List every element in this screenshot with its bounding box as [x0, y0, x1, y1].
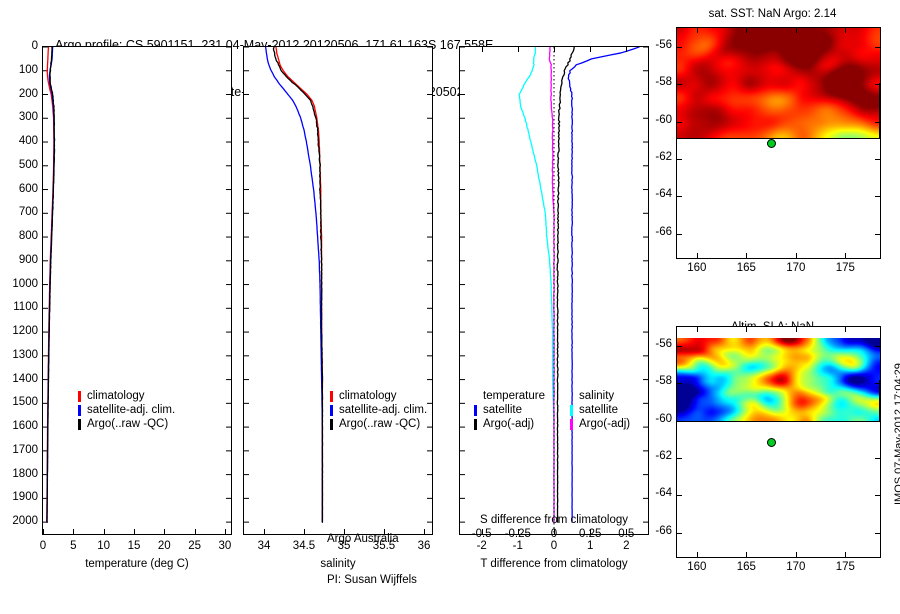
difference-legend-temperature: temperature satellite Argo(-adj) [474, 389, 545, 431]
axis-tick [677, 196, 682, 197]
sst-map-title: sat. SST: NaN Argo: 2.14 [660, 7, 885, 21]
credit-line2: PI: Susan Wijffels [327, 574, 417, 588]
axis-tick [697, 28, 698, 33]
sla-lon-tick: 175 [815, 561, 875, 573]
axis-tick [104, 529, 105, 534]
legend-label-temperature-satellite: satellite [483, 403, 522, 417]
axis-tick [304, 529, 305, 534]
x-tick-label: 2 [596, 540, 656, 552]
axis-tick [626, 529, 627, 534]
panel-temperature [42, 46, 232, 535]
legend-swatch-satellite-adj [330, 405, 333, 416]
sst-field [677, 28, 880, 139]
axis-tick [875, 533, 880, 534]
axis-tick [875, 196, 880, 197]
axis-tick [344, 529, 345, 534]
y-tick-label: 1100 [0, 302, 38, 312]
legend-item: satellite-adj. clim. [78, 403, 175, 417]
axis-tick [746, 327, 747, 332]
axis-tick [677, 159, 682, 160]
axis-tick [518, 529, 519, 534]
panel-difference [459, 46, 649, 535]
axis-tick [875, 234, 880, 235]
axis-tick [554, 529, 555, 534]
axis-tick [845, 552, 846, 557]
y-tick-label: 500 [0, 160, 38, 170]
sla-lat-tick: -56 [640, 339, 672, 349]
axis-tick [875, 84, 880, 85]
axis-tick [677, 421, 682, 422]
axis-tick [875, 458, 880, 459]
legend-label-satellite-adj: satellite-adj. clim. [339, 403, 427, 417]
axis-tick [875, 421, 880, 422]
legend-swatch-temperature-satellite [474, 405, 477, 416]
legend-item: satellite [570, 403, 630, 417]
salinity-profile-plot [244, 47, 432, 534]
sst-lat-tick: -56 [640, 40, 672, 50]
axis-tick [677, 122, 682, 123]
axis-tick [73, 529, 74, 534]
sst-lat-tick: -58 [640, 77, 672, 87]
y-tick-label: 1200 [0, 326, 38, 336]
axis-tick [677, 346, 682, 347]
legend-swatch-climatology [78, 391, 81, 402]
legend-item: satellite [474, 403, 545, 417]
sla-lat-tick: -64 [640, 488, 672, 498]
axis-tick [796, 327, 797, 332]
credit-line1: Argo Australia [327, 533, 417, 547]
y-tick-label: 600 [0, 184, 38, 194]
axis-tick [677, 458, 682, 459]
legend-label-salinity-argo-adj: Argo(-adj) [579, 417, 630, 431]
sla-map[interactable] [676, 326, 881, 558]
profile-location-marker [767, 139, 776, 148]
sst-lat-tick: -64 [640, 189, 672, 199]
axis-tick [697, 327, 698, 332]
legend-swatch-argo-raw [330, 419, 333, 430]
temperature-profile-plot [43, 47, 231, 534]
legend-swatch-satellite-adj [78, 405, 81, 416]
y-tick-label: 1900 [0, 492, 38, 502]
y-tick-label: 1500 [0, 397, 38, 407]
profile-location-marker [767, 438, 776, 447]
legend-swatch-salinity-argo-adj [570, 419, 573, 430]
legend-item: Argo(..raw -QC) [330, 417, 427, 431]
sla-field [677, 338, 880, 422]
legend-label-climatology: climatology [87, 389, 145, 403]
y-tick-label: 300 [0, 112, 38, 122]
y-tick-label: 1400 [0, 374, 38, 384]
difference-legend-salinity: salinity satellite Argo(-adj) [570, 389, 630, 431]
salinity-legend: climatology satellite-adj. clim. Argo(..… [330, 389, 427, 431]
axis-tick [845, 28, 846, 33]
legend-label-satellite-adj: satellite-adj. clim. [87, 403, 175, 417]
axis-tick [43, 529, 44, 534]
legend-swatch-argo-raw [78, 419, 81, 430]
axis-tick [677, 47, 682, 48]
axis-tick [518, 47, 519, 52]
axis-tick [134, 529, 135, 534]
legend-swatch-salinity-satellite [570, 405, 573, 416]
legend-label-argo-raw: Argo(..raw -QC) [87, 417, 168, 431]
legend-item: climatology [330, 389, 427, 403]
legend-header-temperature: temperature [474, 389, 545, 403]
axis-tick [875, 122, 880, 123]
y-tick-label: 900 [0, 255, 38, 265]
axis-tick [796, 28, 797, 33]
y-tick-label: 700 [0, 207, 38, 217]
y-tick-label: 1000 [0, 279, 38, 289]
temperature-axis-title: temperature (deg C) [42, 558, 232, 570]
axis-tick [384, 529, 385, 534]
axis-tick [225, 529, 226, 534]
legend-item: Argo(..raw -QC) [78, 417, 175, 431]
legend-item: Argo(-adj) [474, 417, 545, 431]
axis-tick [845, 253, 846, 258]
sla-lat-tick: -66 [640, 526, 672, 536]
difference-profile-plot [460, 47, 648, 534]
y-tick-label: 1300 [0, 350, 38, 360]
axis-tick [677, 495, 682, 496]
axis-tick [746, 253, 747, 258]
difference-t-axis-title: T difference from climatology [459, 558, 649, 570]
axis-tick [845, 327, 846, 332]
legend-swatch-climatology [330, 391, 333, 402]
axis-tick [677, 234, 682, 235]
sst-lon-tick: 175 [815, 262, 875, 274]
axis-tick [164, 529, 165, 534]
legend-label-temperature-argo-adj: Argo(-adj) [483, 417, 534, 431]
figure-root: Argo profile: CS 5901151_231 04-May-2012… [0, 0, 900, 580]
axis-tick [746, 552, 747, 557]
axis-tick [875, 47, 880, 48]
axis-tick [697, 253, 698, 258]
axis-tick [590, 47, 591, 52]
legend-header-salinity: salinity [570, 389, 630, 403]
legend-item: Argo(-adj) [570, 417, 630, 431]
y-tick-label: 200 [0, 89, 38, 99]
sst-lat-tick: -62 [640, 152, 672, 162]
axis-tick [746, 28, 747, 33]
y-tick-label: 400 [0, 136, 38, 146]
legend-label-argo-raw: Argo(..raw -QC) [339, 417, 420, 431]
y-tick-label: 1700 [0, 445, 38, 455]
y-tick-label: 1800 [0, 469, 38, 479]
temperature-legend: climatology satellite-adj. clim. Argo(..… [78, 389, 175, 431]
axis-tick [590, 529, 591, 534]
y-tick-label: 2000 [0, 516, 38, 526]
sla-lat-tick: -58 [640, 376, 672, 386]
sla-lat-tick: -60 [640, 414, 672, 424]
legend-item: climatology [78, 389, 175, 403]
axis-tick [875, 346, 880, 347]
axis-tick [554, 47, 555, 52]
panel-salinity [243, 46, 433, 535]
axis-tick [697, 552, 698, 557]
axis-tick [482, 47, 483, 52]
axis-tick [264, 529, 265, 534]
y-tick-label: 800 [0, 231, 38, 241]
legend-label-salinity-satellite: satellite [579, 403, 618, 417]
axis-tick [875, 383, 880, 384]
legend-swatch-temperature-argo-adj [474, 419, 477, 430]
sst-map[interactable] [676, 27, 881, 259]
axis-tick [677, 533, 682, 534]
y-tick-label: 0 [0, 41, 38, 51]
sst-lat-tick: -60 [640, 115, 672, 125]
data-credit: Argo Australia PI: Susan Wijffels [327, 506, 417, 614]
difference-s-axis-title: S difference from climatology [459, 514, 649, 526]
axis-tick [677, 383, 682, 384]
axis-tick [796, 552, 797, 557]
axis-tick [875, 159, 880, 160]
legend-item: satellite-adj. clim. [330, 403, 427, 417]
timestamp-stamp: IMOS 07-May-2012 17:04:29 [893, 363, 900, 505]
axis-tick [875, 495, 880, 496]
legend-label-climatology: climatology [339, 389, 397, 403]
axis-tick [482, 529, 483, 534]
sst-lat-tick: -66 [640, 227, 672, 237]
y-tick-label: 100 [0, 65, 38, 75]
y-tick-label: 1600 [0, 421, 38, 431]
axis-tick [626, 47, 627, 52]
axis-tick [424, 529, 425, 534]
axis-tick [796, 253, 797, 258]
axis-tick [677, 84, 682, 85]
axis-tick [195, 529, 196, 534]
sla-lat-tick: -62 [640, 451, 672, 461]
